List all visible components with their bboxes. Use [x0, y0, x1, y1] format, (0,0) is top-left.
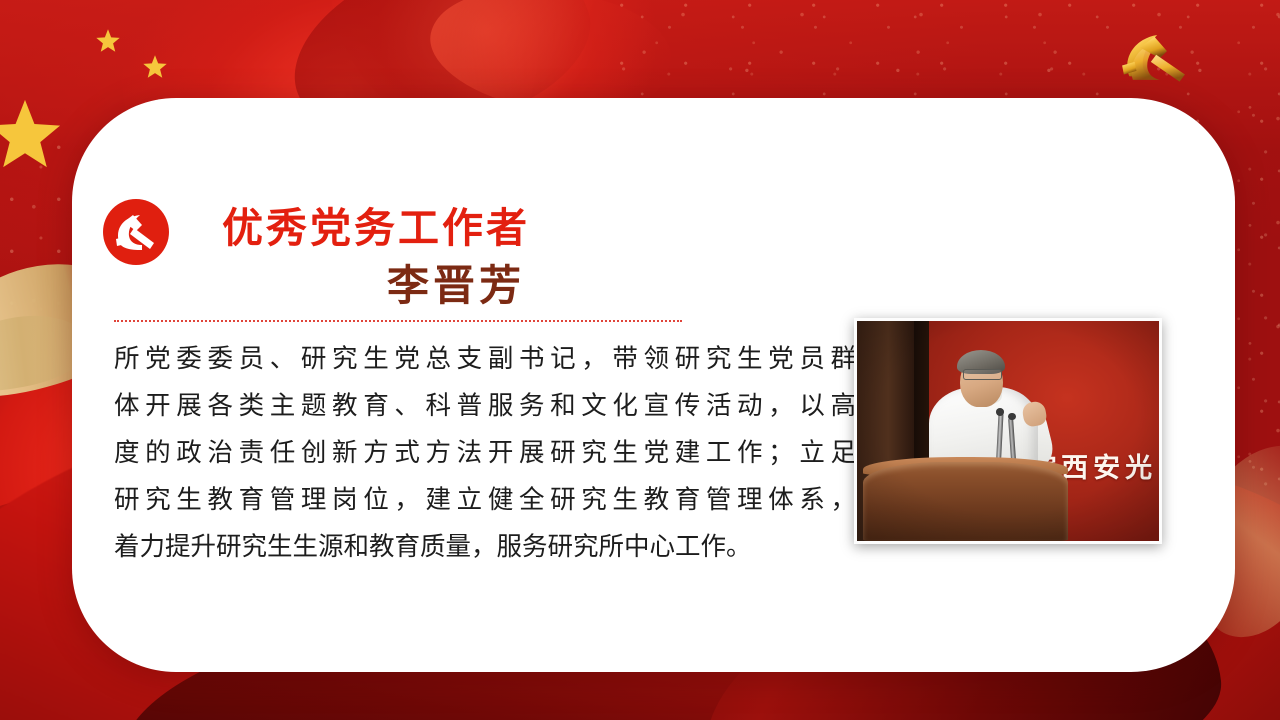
biography-line: 所党委委员、研究生党总支副书记，带领研究生党员群 — [114, 336, 856, 383]
party-emblem-hammer-sickle-icon — [102, 198, 170, 266]
person-name: 李晋芳 — [387, 252, 525, 313]
biography-line: 体开展各类主题教育、科普服务和文化宣传活动，以高 — [114, 383, 856, 430]
flag-small-star-1-icon — [95, 28, 121, 54]
page-title: 优秀党务工作者 — [222, 194, 530, 254]
person-photo: 院西安光 — [854, 318, 1162, 544]
biography-line: 着力提升研究生生源和教育质量，服务研究所中心工作。 — [114, 524, 856, 571]
biography-line: 度的政治责任创新方式方法开展研究生党建工作；立足 — [114, 430, 856, 477]
flag-big-star-icon — [0, 96, 64, 174]
person-photo-image: 院西安光 — [857, 321, 1159, 541]
biography-line: 研究生教育管理岗位，建立健全研究生教育管理体系， — [114, 477, 856, 524]
photo-vignette — [857, 321, 1159, 541]
content-card: 优秀党务工作者 李晋芳 所党委委员、研究生党总支副书记，带领研究生党员群 体开展… — [72, 98, 1235, 672]
biography-text: 所党委委员、研究生党总支副书记，带领研究生党员群 体开展各类主题教育、科普服务和… — [114, 336, 856, 571]
party-emblem-gold-icon — [1112, 26, 1204, 96]
slide-root: 优秀党务工作者 李晋芳 所党委委员、研究生党总支副书记，带领研究生党员群 体开展… — [0, 0, 1280, 720]
dotted-divider — [114, 320, 682, 322]
flag-small-star-2-icon — [142, 54, 168, 80]
